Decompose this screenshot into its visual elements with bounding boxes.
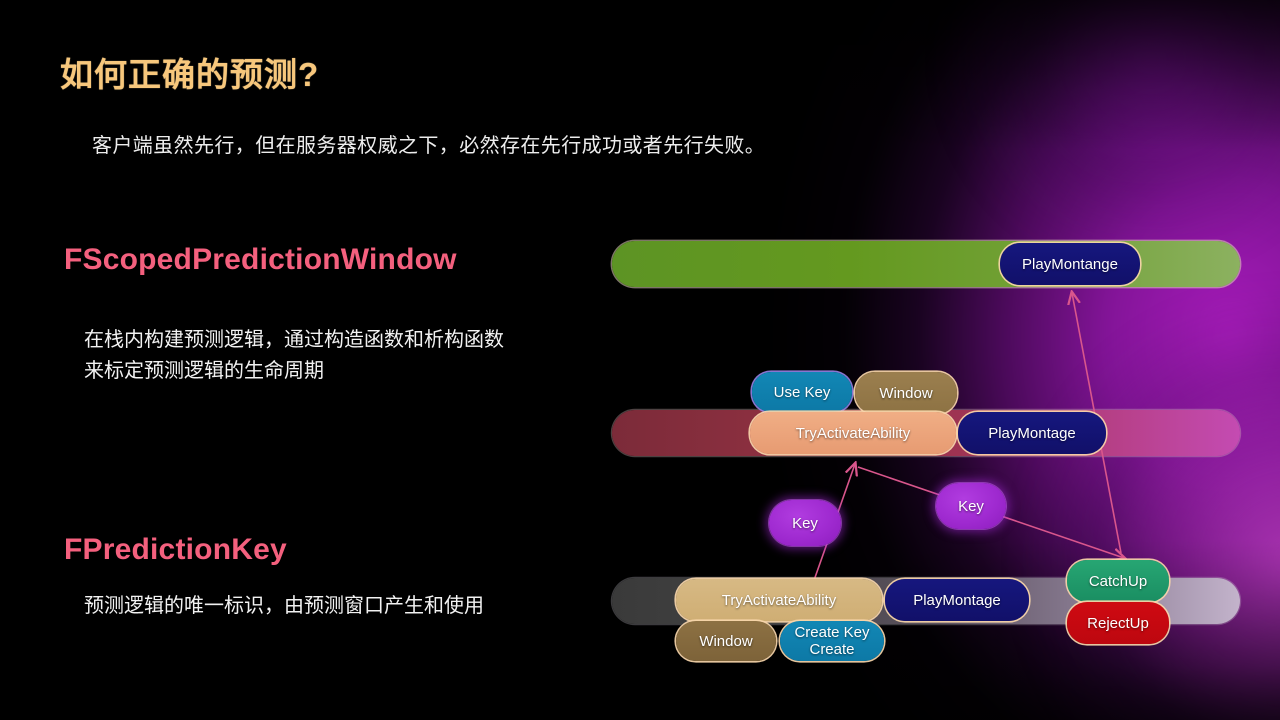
node-play-montage-bottom[interactable]: PlayMontage xyxy=(885,579,1029,621)
node-label: PlayMontange xyxy=(1022,256,1118,273)
node-key-right[interactable]: Key xyxy=(936,483,1006,529)
node-label: Window xyxy=(879,385,932,402)
node-label: Window xyxy=(699,633,752,650)
node-label: Use Key xyxy=(774,384,831,401)
node-reject-up[interactable]: RejectUp xyxy=(1067,602,1169,644)
node-label: Key xyxy=(958,498,984,515)
node-use-key[interactable]: Use Key xyxy=(752,372,852,412)
node-try-activate-ability-middle[interactable]: TryActivateAbility xyxy=(750,412,956,454)
node-label: PlayMontage xyxy=(913,592,1001,609)
node-label-line-2: Create xyxy=(809,641,854,658)
node-window-bottom[interactable]: Window xyxy=(676,621,776,661)
prediction-timeline-diagram: PlayMontange Use Key Window TryActivateA… xyxy=(0,0,1280,720)
node-label: TryActivateAbility xyxy=(722,592,836,609)
node-catch-up[interactable]: CatchUp xyxy=(1067,560,1169,602)
node-try-activate-ability-bottom[interactable]: TryActivateAbility xyxy=(676,579,882,621)
node-label: CatchUp xyxy=(1089,573,1147,590)
node-label: Key xyxy=(792,515,818,532)
node-label: PlayMontage xyxy=(988,425,1076,442)
node-label-line-1: Create Key xyxy=(794,624,869,641)
node-create-key[interactable]: Create Key Create xyxy=(780,621,884,661)
node-label: TryActivateAbility xyxy=(796,425,910,442)
node-key-left[interactable]: Key xyxy=(769,500,841,546)
node-label: RejectUp xyxy=(1087,615,1149,632)
slide-root: 如何正确的预测? 客户端虽然先行，但在服务器权威之下，必然存在先行成功或者先行失… xyxy=(0,0,1280,720)
node-play-montange[interactable]: PlayMontange xyxy=(1000,243,1140,285)
node-play-montage-middle[interactable]: PlayMontage xyxy=(958,412,1106,454)
node-window-middle[interactable]: Window xyxy=(855,372,957,414)
